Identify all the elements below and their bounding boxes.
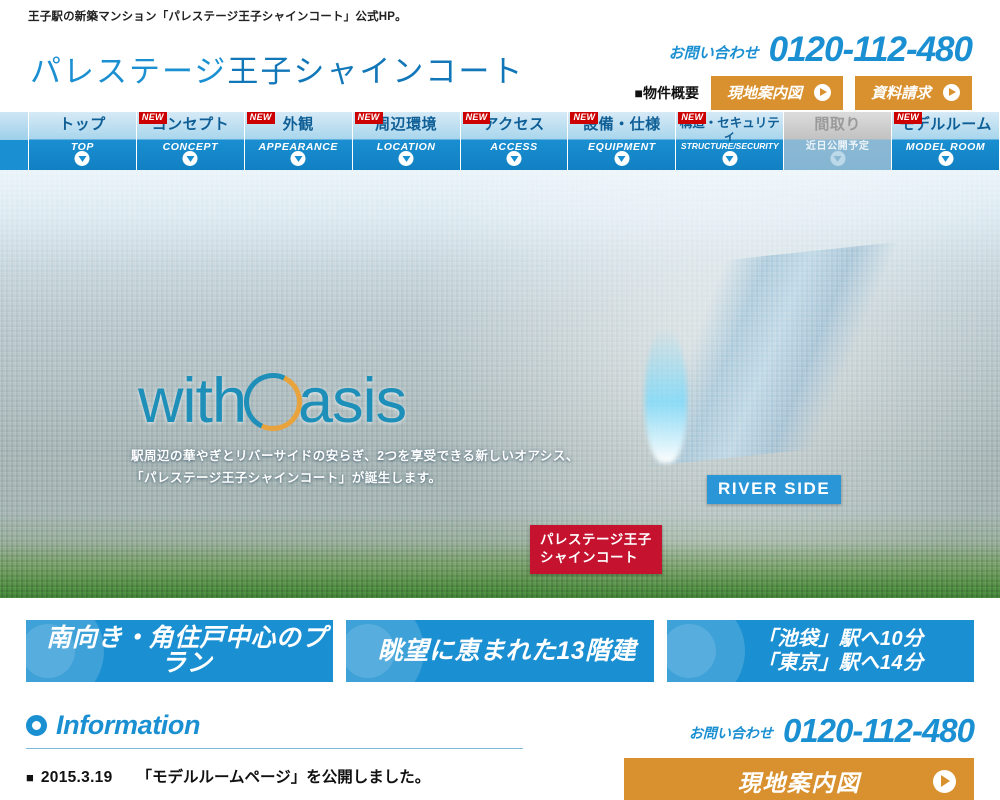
news-text: 「モデルルームページ」を公開しました。: [137, 765, 431, 787]
nav-item-appearance[interactable]: NEW外観APPEARANCE: [244, 112, 352, 170]
cta-contact-label: お問い合わせ: [689, 723, 773, 747]
new-badge-icon: NEW: [894, 112, 922, 124]
information-title: Information: [56, 712, 200, 739]
news-item[interactable]: ■2015.3.19「モデルルームページ」を公開しました。: [26, 765, 606, 787]
feature-box-text: 眺望に恵まれた13階建: [346, 639, 653, 664]
feature-highlight-row: 南向き・角住戸中心のプラン眺望に恵まれた13階建「池袋」駅へ10分「東京」駅へ1…: [0, 598, 1000, 682]
header-contact-block: お問い合わせ 0120-112-480 ■物件概要 現地案内図 資料請求: [622, 32, 972, 110]
nav-item-label-en: STRUCTURE/SECURITY: [676, 142, 783, 151]
map-tag-property-location: パレステージ王子 シャインコート: [530, 525, 662, 574]
nav-item-: 間取り近日公開予定: [783, 112, 891, 170]
feature-box-line-2: 「東京」駅へ14分: [707, 651, 974, 675]
contact-label: お問い合わせ: [669, 42, 759, 67]
nav-item-access[interactable]: NEWアクセスACCESS: [460, 112, 568, 170]
chevron-down-icon: [75, 151, 90, 166]
hero-catch-copy: 駅周辺の華やぎとリバーサイドの安らぎ、2つを享受できる新しいオアシス、 「パレス…: [131, 446, 579, 490]
feature-box-3[interactable]: 「池袋」駅へ10分「東京」駅へ14分: [667, 620, 974, 682]
header-brochure-button-label: 資料請求: [871, 82, 931, 103]
header-map-button[interactable]: 現地案内図: [711, 76, 843, 110]
news-bullet-icon: ■: [26, 771, 34, 784]
new-badge-icon: NEW: [247, 112, 275, 124]
hero-copy-line-1: 駅周辺の華やぎとリバーサイドの安らぎ、2つを享受できる新しいオアシス、: [131, 446, 579, 468]
information-heading: Information: [26, 712, 606, 739]
site-header: 王子駅の新築マンション「パレステージ王子シャインコート」公式HP。 パレステージ…: [0, 0, 1000, 112]
lower-section: Information ■2015.3.19「モデルルームページ」を公開しました…: [0, 682, 1000, 800]
cta-phone-row: お問い合わせ 0120-112-480: [624, 714, 974, 747]
feature-box-2[interactable]: 眺望に恵まれた13階建: [346, 620, 653, 682]
cta-map-button-label: 現地案内図: [738, 764, 861, 798]
feature-box-text: 南向き・角住戸中心のプラン: [26, 626, 333, 676]
chevron-down-icon: [291, 151, 306, 166]
map-tag-river-side: RIVER SIDE: [707, 475, 841, 504]
nav-item-location[interactable]: NEW周辺環境LOCATION: [352, 112, 460, 170]
map-tag-property-line-2: シャインコート: [540, 549, 652, 567]
new-badge-icon: NEW: [463, 112, 491, 124]
map-tag-property-line-1: パレステージ王子: [540, 531, 652, 549]
chevron-down-icon: [614, 151, 629, 166]
circle-ring-icon: [26, 715, 47, 736]
chevron-down-icon: [183, 151, 198, 166]
information-divider: [26, 748, 523, 749]
feature-box-line-1: 眺望に恵まれた13階建: [360, 639, 653, 664]
site-tagline: 王子駅の新築マンション「パレステージ王子シャインコート」公式HP。: [28, 8, 407, 24]
cta-column: お問い合わせ 0120-112-480 現地案内図: [624, 712, 974, 800]
hero-aerial-photo: with asis 駅周辺の華やぎとリバーサイドの安らぎ、2つを享受できる新しい…: [0, 170, 1000, 598]
nav-item-top[interactable]: トップTOP: [28, 112, 136, 170]
new-badge-icon: NEW: [355, 112, 383, 124]
brand-prefix: パレステージ: [30, 54, 227, 89]
header-brochure-button[interactable]: 資料請求: [855, 76, 972, 110]
new-badge-icon: NEW: [678, 112, 706, 124]
arrow-right-icon: [933, 770, 956, 793]
news-list: ■2015.3.19「モデルルームページ」を公開しました。■2015.3.19「…: [26, 765, 606, 800]
contact-phone-number: 0120-112-480: [769, 32, 972, 67]
hero-location-beam: [645, 328, 687, 463]
hero-with-oasis-logo: with asis: [138, 370, 406, 433]
arrow-right-icon: [814, 84, 831, 101]
feature-box-text: 「池袋」駅へ10分「東京」駅へ14分: [667, 627, 974, 676]
nav-item-model-room[interactable]: NEWモデルルームMODEL ROOM: [891, 112, 1000, 170]
chevron-down-icon: [399, 151, 414, 166]
chevron-down-icon: [507, 151, 522, 166]
site-brand-title: パレステージ王子シャインコート: [30, 46, 524, 91]
nav-item-structure-security[interactable]: NEW構造・セキュリティSTRUCTURE/SECURITY: [675, 112, 783, 170]
hero-copy-line-2: 「パレステージ王子シャインコート」が誕生します。: [131, 468, 579, 490]
brand-suffix: 王子シャインコート: [227, 54, 524, 89]
feature-box-1[interactable]: 南向き・角住戸中心のプラン: [26, 620, 333, 682]
arrow-right-icon: [943, 84, 960, 101]
header-phone-row: お問い合わせ 0120-112-480: [622, 32, 972, 67]
news-date: 2015.3.19: [41, 769, 113, 787]
chevron-down-icon: [722, 151, 737, 166]
chevron-down-icon: [938, 151, 953, 166]
nav-item-equipment[interactable]: NEW設備・仕様EQUIPMENT: [567, 112, 675, 170]
feature-box-line-1: 「池袋」駅へ10分: [707, 627, 974, 651]
information-column: Information ■2015.3.19「モデルルームページ」を公開しました…: [26, 712, 606, 800]
new-badge-icon: NEW: [570, 112, 598, 124]
hero-logo-with: with: [138, 370, 246, 433]
nav-item-label-jp: 間取り: [784, 117, 891, 132]
property-overview-link[interactable]: ■物件概要: [635, 83, 699, 103]
nav-item-concept[interactable]: NEWコンセプトCONCEPT: [136, 112, 244, 170]
hero-logo-asis: asis: [298, 370, 406, 433]
nav-left-edge: [0, 112, 28, 170]
header-action-row: ■物件概要 現地案内図 資料請求: [622, 76, 972, 110]
nav-item-label-jp: トップ: [29, 117, 136, 132]
cta-map-button[interactable]: 現地案内図: [624, 758, 974, 800]
chevron-down-icon: [830, 151, 845, 166]
header-map-button-label: 現地案内図: [727, 82, 802, 103]
global-navigation: トップTOPNEWコンセプトCONCEPTNEW外観APPEARANCENEW周…: [0, 112, 1000, 170]
feature-box-line-1: 南向き・角住戸中心のプラン: [40, 626, 333, 676]
cta-phone-number: 0120-112-480: [783, 714, 974, 747]
new-badge-icon: NEW: [139, 112, 167, 124]
